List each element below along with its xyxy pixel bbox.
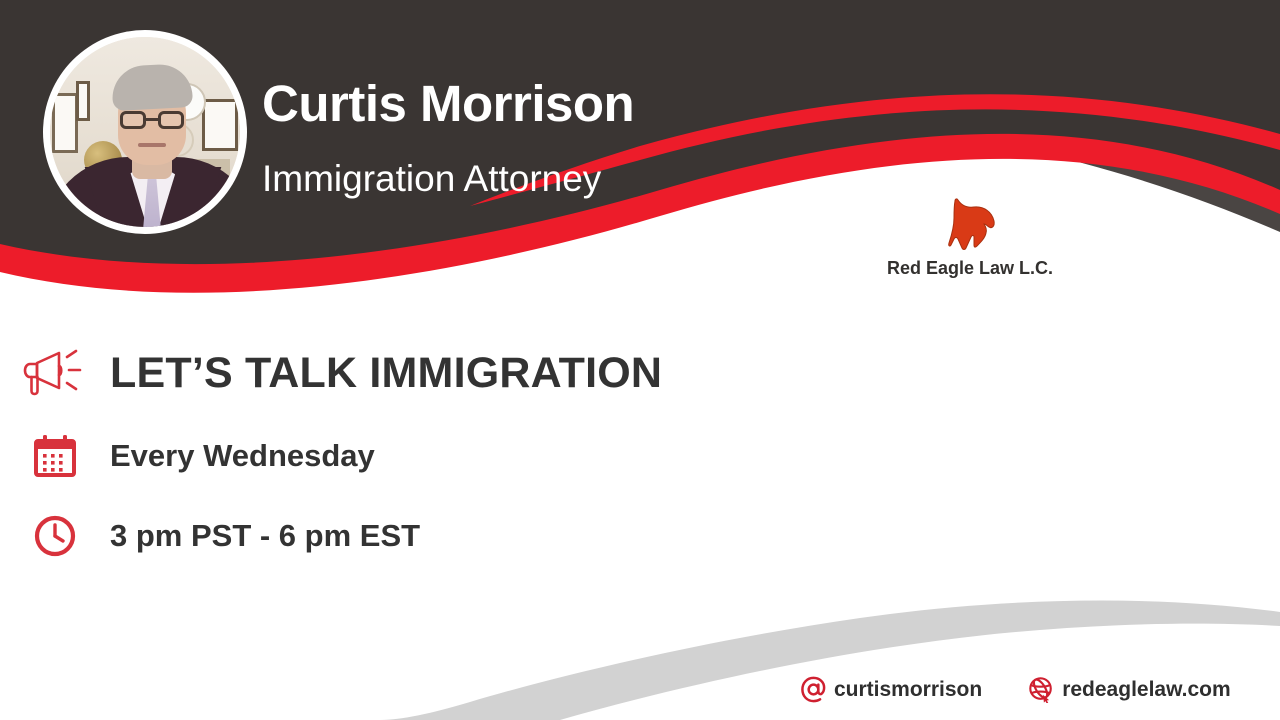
speaker-name: Curtis Morrison bbox=[262, 74, 634, 133]
event-day-row: Every Wednesday bbox=[0, 416, 900, 496]
brand-name: Red Eagle Law L.C. bbox=[865, 258, 1075, 279]
at-sign-icon bbox=[800, 676, 827, 703]
footer-link-website[interactable]: redeaglelaw.com bbox=[1028, 676, 1230, 703]
megaphone-icon bbox=[0, 348, 110, 398]
event-title: LET’S TALK IMMIGRATION bbox=[110, 349, 662, 398]
portrait-photo bbox=[50, 37, 240, 227]
photo-mouth bbox=[138, 143, 166, 147]
eagle-head-icon bbox=[934, 196, 1006, 254]
event-details: LET’S TALK IMMIGRATION bbox=[0, 330, 900, 576]
calendar-icon bbox=[0, 433, 110, 479]
photo-wall-frame bbox=[52, 93, 78, 153]
footer-link-website-label: redeaglelaw.com bbox=[1062, 678, 1230, 702]
photo-wall-frame bbox=[76, 81, 90, 121]
footer-link-social-label: curtismorrison bbox=[834, 678, 982, 702]
brand-logo: Red Eagle Law L.C. bbox=[865, 196, 1075, 279]
avatar bbox=[43, 30, 247, 234]
event-time: 3 pm PST - 6 pm EST bbox=[110, 518, 420, 554]
event-title-row: LET’S TALK IMMIGRATION bbox=[0, 330, 900, 416]
promo-slide: Curtis Morrison Immigration Attorney Red… bbox=[0, 0, 1280, 720]
photo-eyeglasses bbox=[120, 111, 184, 129]
speaker-role: Immigration Attorney bbox=[262, 158, 601, 200]
photo-wall-frame bbox=[202, 99, 238, 151]
footer-links: curtismorrison redeaglelaw.com bbox=[800, 676, 1231, 703]
footer-link-social[interactable]: curtismorrison bbox=[800, 676, 982, 703]
clock-icon bbox=[0, 513, 110, 559]
event-day: Every Wednesday bbox=[110, 438, 375, 474]
globe-website-icon bbox=[1028, 676, 1055, 703]
